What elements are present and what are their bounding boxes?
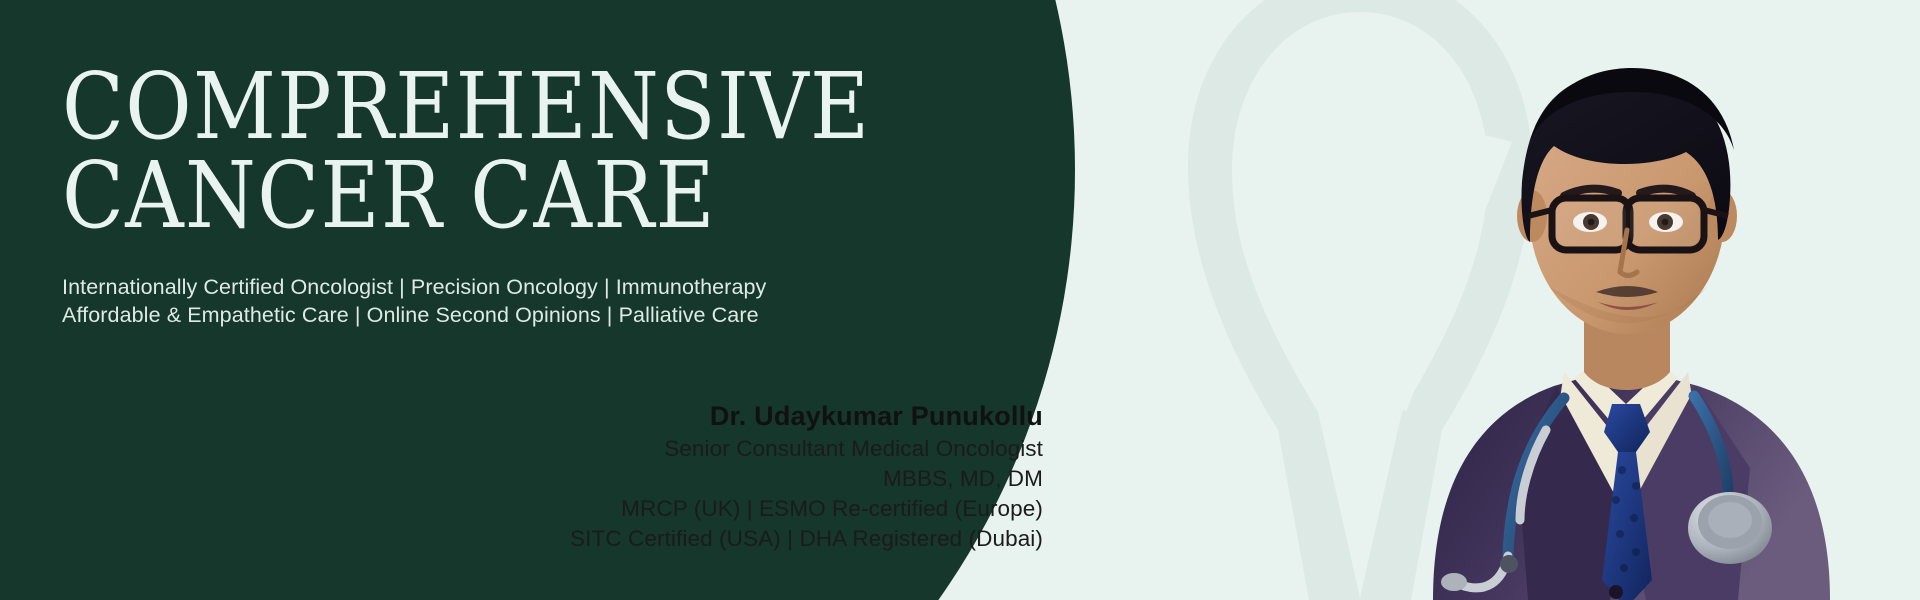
doctor-degrees: MBBS, MD, DM (570, 464, 1043, 494)
doctor-portrait-photo (1378, 0, 1848, 600)
doctor-name: Dr. Udaykumar Punukollu (570, 400, 1043, 434)
doctor-credentials-block: Dr. Udaykumar Punukollu Senior Consultan… (570, 400, 1043, 553)
doctor-title: Senior Consultant Medical Oncologist (570, 434, 1043, 464)
tagline-line-2: Affordable & Empathetic Care | Online Se… (62, 302, 822, 330)
doctor-certification-line-2: SITC Certified (USA) | DHA Registered (D… (570, 524, 1043, 554)
tagline: Internationally Certified Oncologist | P… (62, 274, 822, 329)
headline-block: COMPREHENSIVE CANCER CARE Internationall… (62, 62, 822, 330)
page-title: COMPREHENSIVE CANCER CARE (62, 62, 731, 240)
doctor-certification-line-1: MRCP (UK) | ESMO Re-certified (Europe) (570, 494, 1043, 524)
tagline-line-1: Internationally Certified Oncologist | P… (62, 274, 822, 302)
headline-line-2: CANCER CARE (62, 151, 731, 240)
cancer-care-banner: COMPREHENSIVE CANCER CARE Internationall… (0, 0, 1920, 600)
